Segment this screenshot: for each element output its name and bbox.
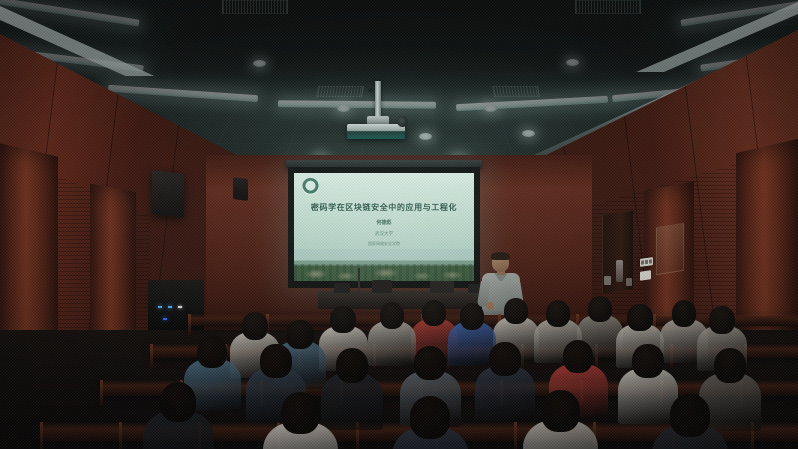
audience-member-head [260,344,291,378]
projector-lens-icon [397,116,408,127]
slide-lab-name: 国家网络安全学院 [294,241,474,247]
audience-member-head [670,394,710,437]
audience-member-head [714,348,747,383]
audience-member [143,382,214,449]
audience-member-head [546,300,571,327]
audience-member [263,392,338,449]
audience-member-head [672,300,697,327]
audience-member-head [410,396,450,439]
audience-member-head [414,346,446,380]
audience-member-head [242,312,268,340]
audience-member-head [709,306,735,334]
audience-member-head [380,302,405,329]
slide-organization: 武汉大学 [294,231,474,237]
audience-member-head [336,348,368,383]
audience-member-head [627,304,652,331]
slide-speaker-name: 何德彪 [294,219,474,226]
ceiling-projector [347,124,405,139]
bench-armrest [119,422,122,449]
presenter-hair [491,252,510,260]
lecture-hall-photo: 密码学在区块链安全中的应用与工程化 何德彪 武汉大学 国家网络安全学院 [0,0,798,449]
audience-member-head [588,296,612,322]
wall-mounted-pa-speaker [152,170,184,217]
audience-member-head [541,390,580,432]
bench-armrest [150,344,153,368]
audience-member [392,396,469,449]
bench-armrest [100,380,103,406]
bench-armrest [188,314,191,336]
audience-member-head [563,340,594,373]
audience-member [652,394,728,449]
audience-member-head [281,392,320,434]
audience-member-head [160,382,197,422]
audience-member-head [632,344,663,378]
audience-member-head [197,336,227,368]
audience-seating [0,262,798,449]
bench-armrest [40,422,43,449]
wall-mounted-pa-speaker [233,177,248,201]
audience-member-head [330,306,355,333]
slide-title: 密码学在区块链安全中的应用与工程化 [294,202,474,213]
university-crest-logo [302,178,319,195]
audience-member-head [422,300,446,326]
audience-member-head [460,303,485,330]
audience-member-head [504,298,528,324]
audience-member [523,390,598,449]
audience-member-head [489,342,520,376]
